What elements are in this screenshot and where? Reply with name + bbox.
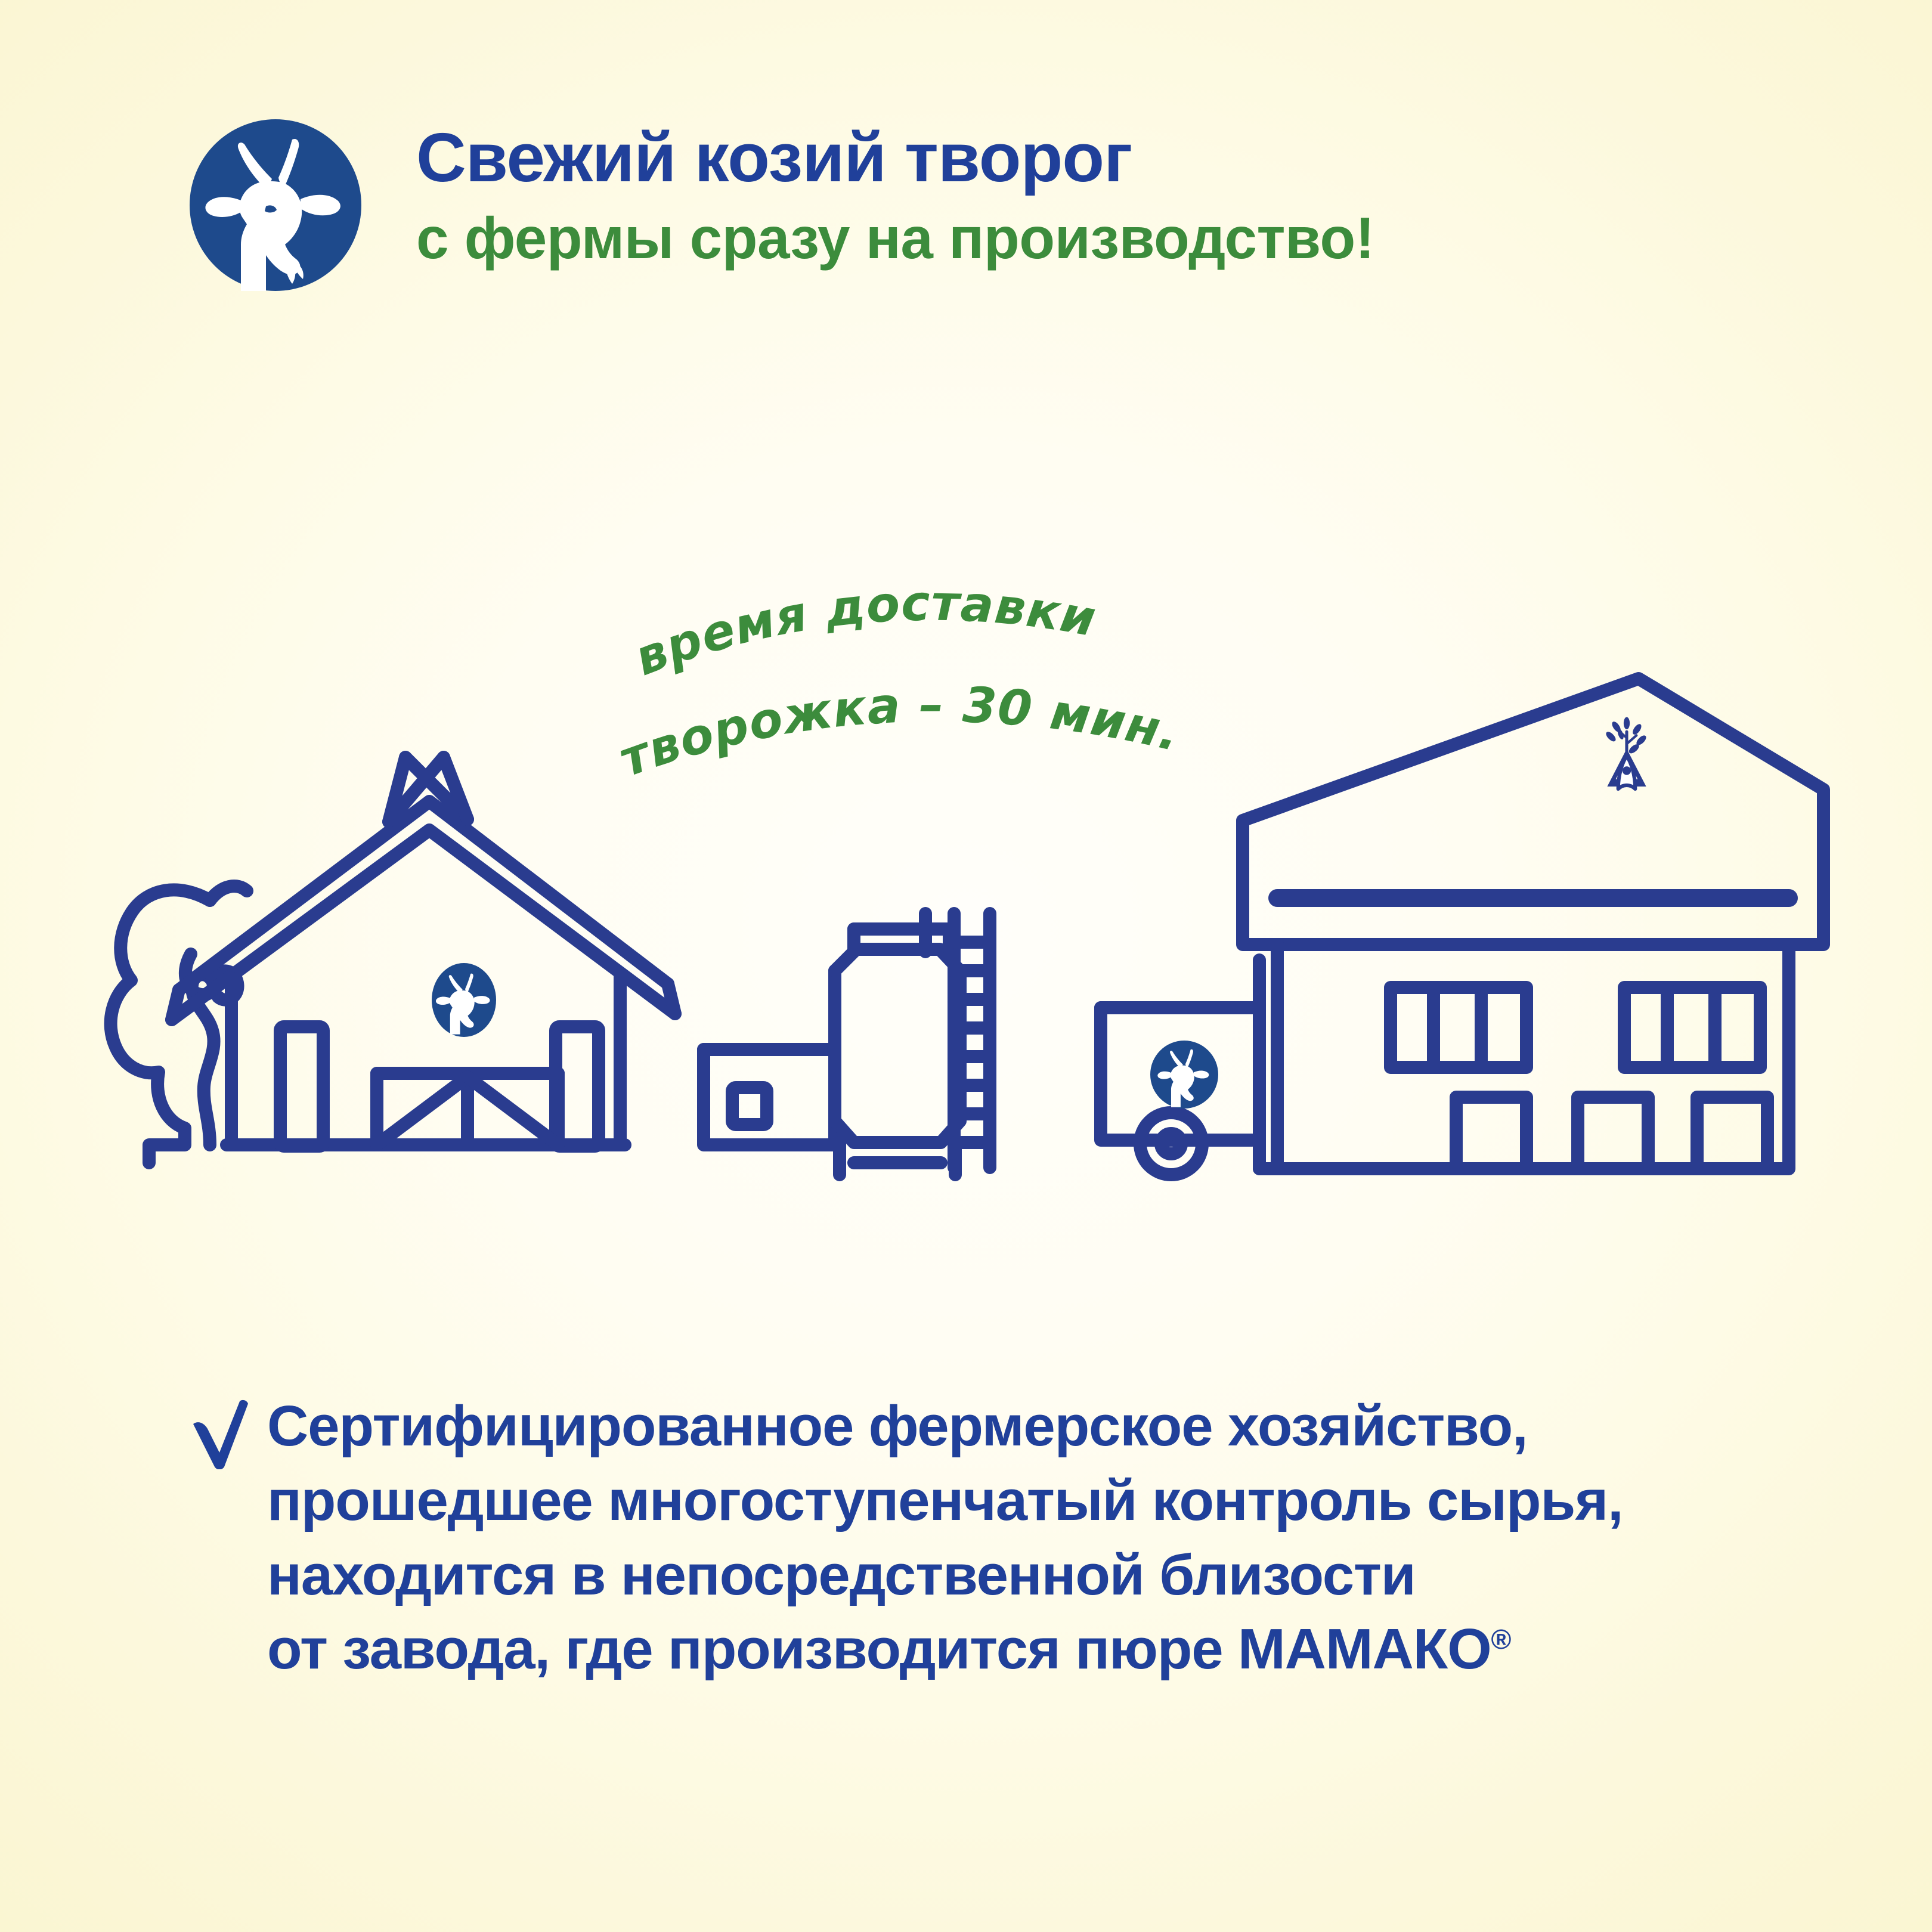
silo-ladder-icon (954, 914, 990, 1168)
header: Свежий козий творог с фермы сразу на про… (190, 117, 1800, 296)
certification-text: Сертифицированное фермерское хозяйство, … (267, 1389, 1623, 1687)
delivery-truck-trailer-icon (1101, 960, 1295, 1175)
goat-head-logo-icon (190, 119, 361, 291)
trademark-symbol: ® (1491, 1624, 1512, 1655)
checkmark-icon (190, 1398, 255, 1469)
bullet-line-4-text: от завода, где производится пюре МАМАКО (267, 1617, 1491, 1681)
production-factory-building-icon (1243, 679, 1823, 1169)
bullet-line-1: Сертифицированное фермерское хозяйство, (267, 1389, 1623, 1464)
milk-silo-tank-icon (835, 914, 960, 1175)
bullet-line-4: от завода, где производится пюре МАМАКО® (267, 1612, 1623, 1687)
farm-to-factory-illustration (0, 644, 1932, 1181)
page-title: Свежий козий творог (416, 123, 1374, 192)
page-subtitle: с фермы сразу на производство! (416, 209, 1374, 267)
plant-triangle-logo-icon (1605, 717, 1648, 789)
bullet-line-3: находится в непосредственной близости (267, 1538, 1623, 1613)
certification-bullet: Сертифицированное фермерское хозяйство, … (190, 1389, 1800, 1687)
infographic-canvas: Свежий козий творог с фермы сразу на про… (0, 0, 1932, 1932)
goat-farm-building-icon (172, 757, 675, 1146)
farm-annex-icon (704, 1049, 835, 1145)
header-text-block: Свежий козий творог с фермы сразу на про… (416, 117, 1374, 267)
bullet-line-2: прошедшее многоступенчатый контроль сырь… (267, 1464, 1623, 1538)
